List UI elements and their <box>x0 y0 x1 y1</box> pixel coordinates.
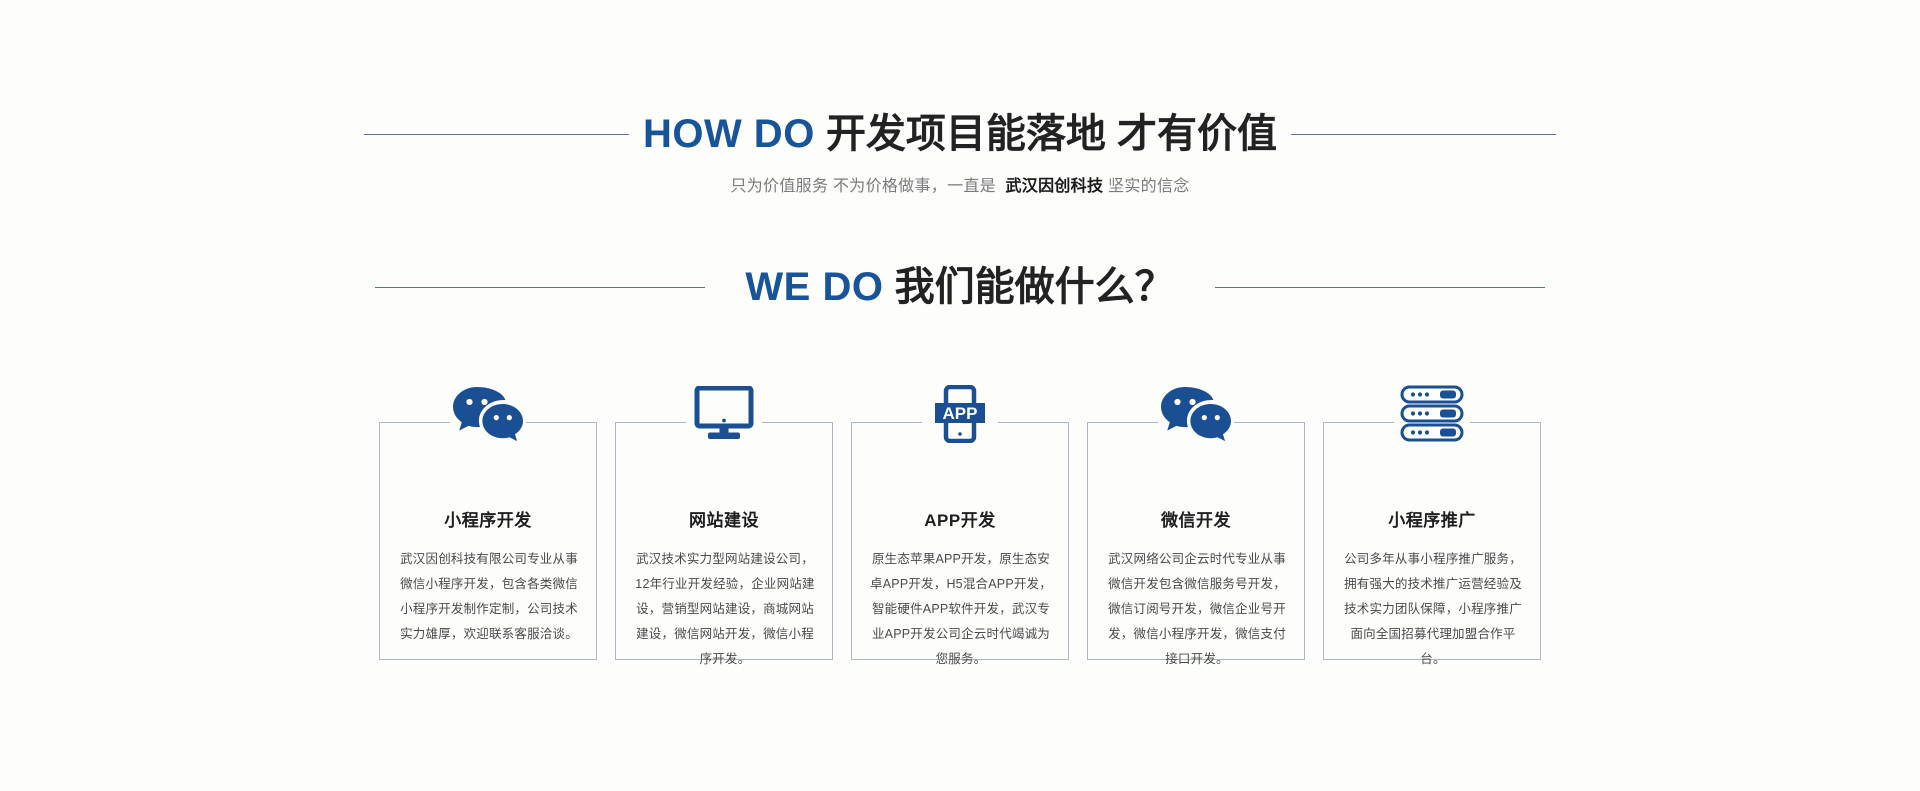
we-do-rule-right <box>1215 287 1545 288</box>
card-body: 武汉因创科技有限公司专业从事微信小程序开发，包含各类微信小程序开发制作定制，公司… <box>396 547 582 647</box>
subtitle-text-after: 坚实的信念 <box>1108 178 1190 195</box>
app-icon-label: APP <box>943 404 978 423</box>
card-title: 网站建设 <box>616 506 832 531</box>
wechat-icon <box>1157 383 1235 445</box>
card-title: APP开发 <box>852 506 1068 531</box>
card-title: 小程序开发 <box>380 506 596 531</box>
service-card[interactable]: APP APP开发 原生态苹果APP开发，原生态安卓APP开发，H5混合APP开… <box>851 422 1069 660</box>
wechat-icon <box>449 383 527 445</box>
how-do-heading: HOW DO 开发项目能落地 才有价值 <box>643 114 1277 154</box>
card-title: 微信开发 <box>1088 506 1304 531</box>
service-card-list: 小程序开发 武汉因创科技有限公司专业从事微信小程序开发，包含各类微信小程序开发制… <box>0 400 1920 660</box>
service-card[interactable]: 小程序推广 公司多年从事小程序推广服务，拥有强大的技术推广运营经验及技术实力团队… <box>1323 422 1541 660</box>
app-phone-icon: APP <box>921 383 999 445</box>
how-do-section: HOW DO 开发项目能落地 才有价值 只为价值服务 不为价格做事，一直是 武汉… <box>0 0 1920 215</box>
monitor-icon <box>685 383 763 445</box>
server-icon <box>1393 383 1471 445</box>
we-do-heading-en: WE DO <box>745 265 883 309</box>
how-do-heading-cn: 开发项目能落地 才有价值 <box>826 112 1277 156</box>
card-body: 武汉网络公司企云时代专业从事微信开发包含微信服务号开发，微信订阅号开发，微信企业… <box>1104 547 1290 672</box>
we-do-heading-cn: 我们能做什么？ <box>895 265 1175 309</box>
service-card[interactable]: 网站建设 武汉技术实力型网站建设公司，12年行业开发经验，企业网站建设，营销型网… <box>615 422 833 660</box>
card-title: 小程序推广 <box>1324 506 1540 531</box>
subtitle-brand-name: 武汉因创科技 <box>1005 178 1103 195</box>
we-do-heading: WE DO 我们能做什么？ <box>745 267 1174 307</box>
heading-rule-left <box>364 134 629 135</box>
how-do-heading-row: HOW DO 开发项目能落地 才有价值 <box>0 108 1920 160</box>
we-do-rule-left <box>375 287 705 288</box>
how-do-heading-en: HOW DO <box>643 112 815 156</box>
service-card[interactable]: 小程序开发 武汉因创科技有限公司专业从事微信小程序开发，包含各类微信小程序开发制… <box>379 422 597 660</box>
service-card[interactable]: 微信开发 武汉网络公司企云时代专业从事微信开发包含微信服务号开发，微信订阅号开发… <box>1087 422 1305 660</box>
how-do-subtitle: 只为价值服务 不为价格做事，一直是 武汉因创科技 坚实的信念 <box>0 172 1920 196</box>
card-body: 公司多年从事小程序推广服务，拥有强大的技术推广运营经验及技术实力团队保障，小程序… <box>1340 547 1526 672</box>
heading-rule-right <box>1291 134 1556 135</box>
card-body: 原生态苹果APP开发，原生态安卓APP开发，H5混合APP开发，智能硬件APP软… <box>868 547 1054 672</box>
we-do-heading-row: WE DO 我们能做什么？ <box>0 262 1920 312</box>
subtitle-text-before: 只为价值服务 不为价格做事，一直是 <box>730 178 996 195</box>
card-body: 武汉技术实力型网站建设公司，12年行业开发经验，企业网站建设，营销型网站建设，商… <box>632 547 818 672</box>
